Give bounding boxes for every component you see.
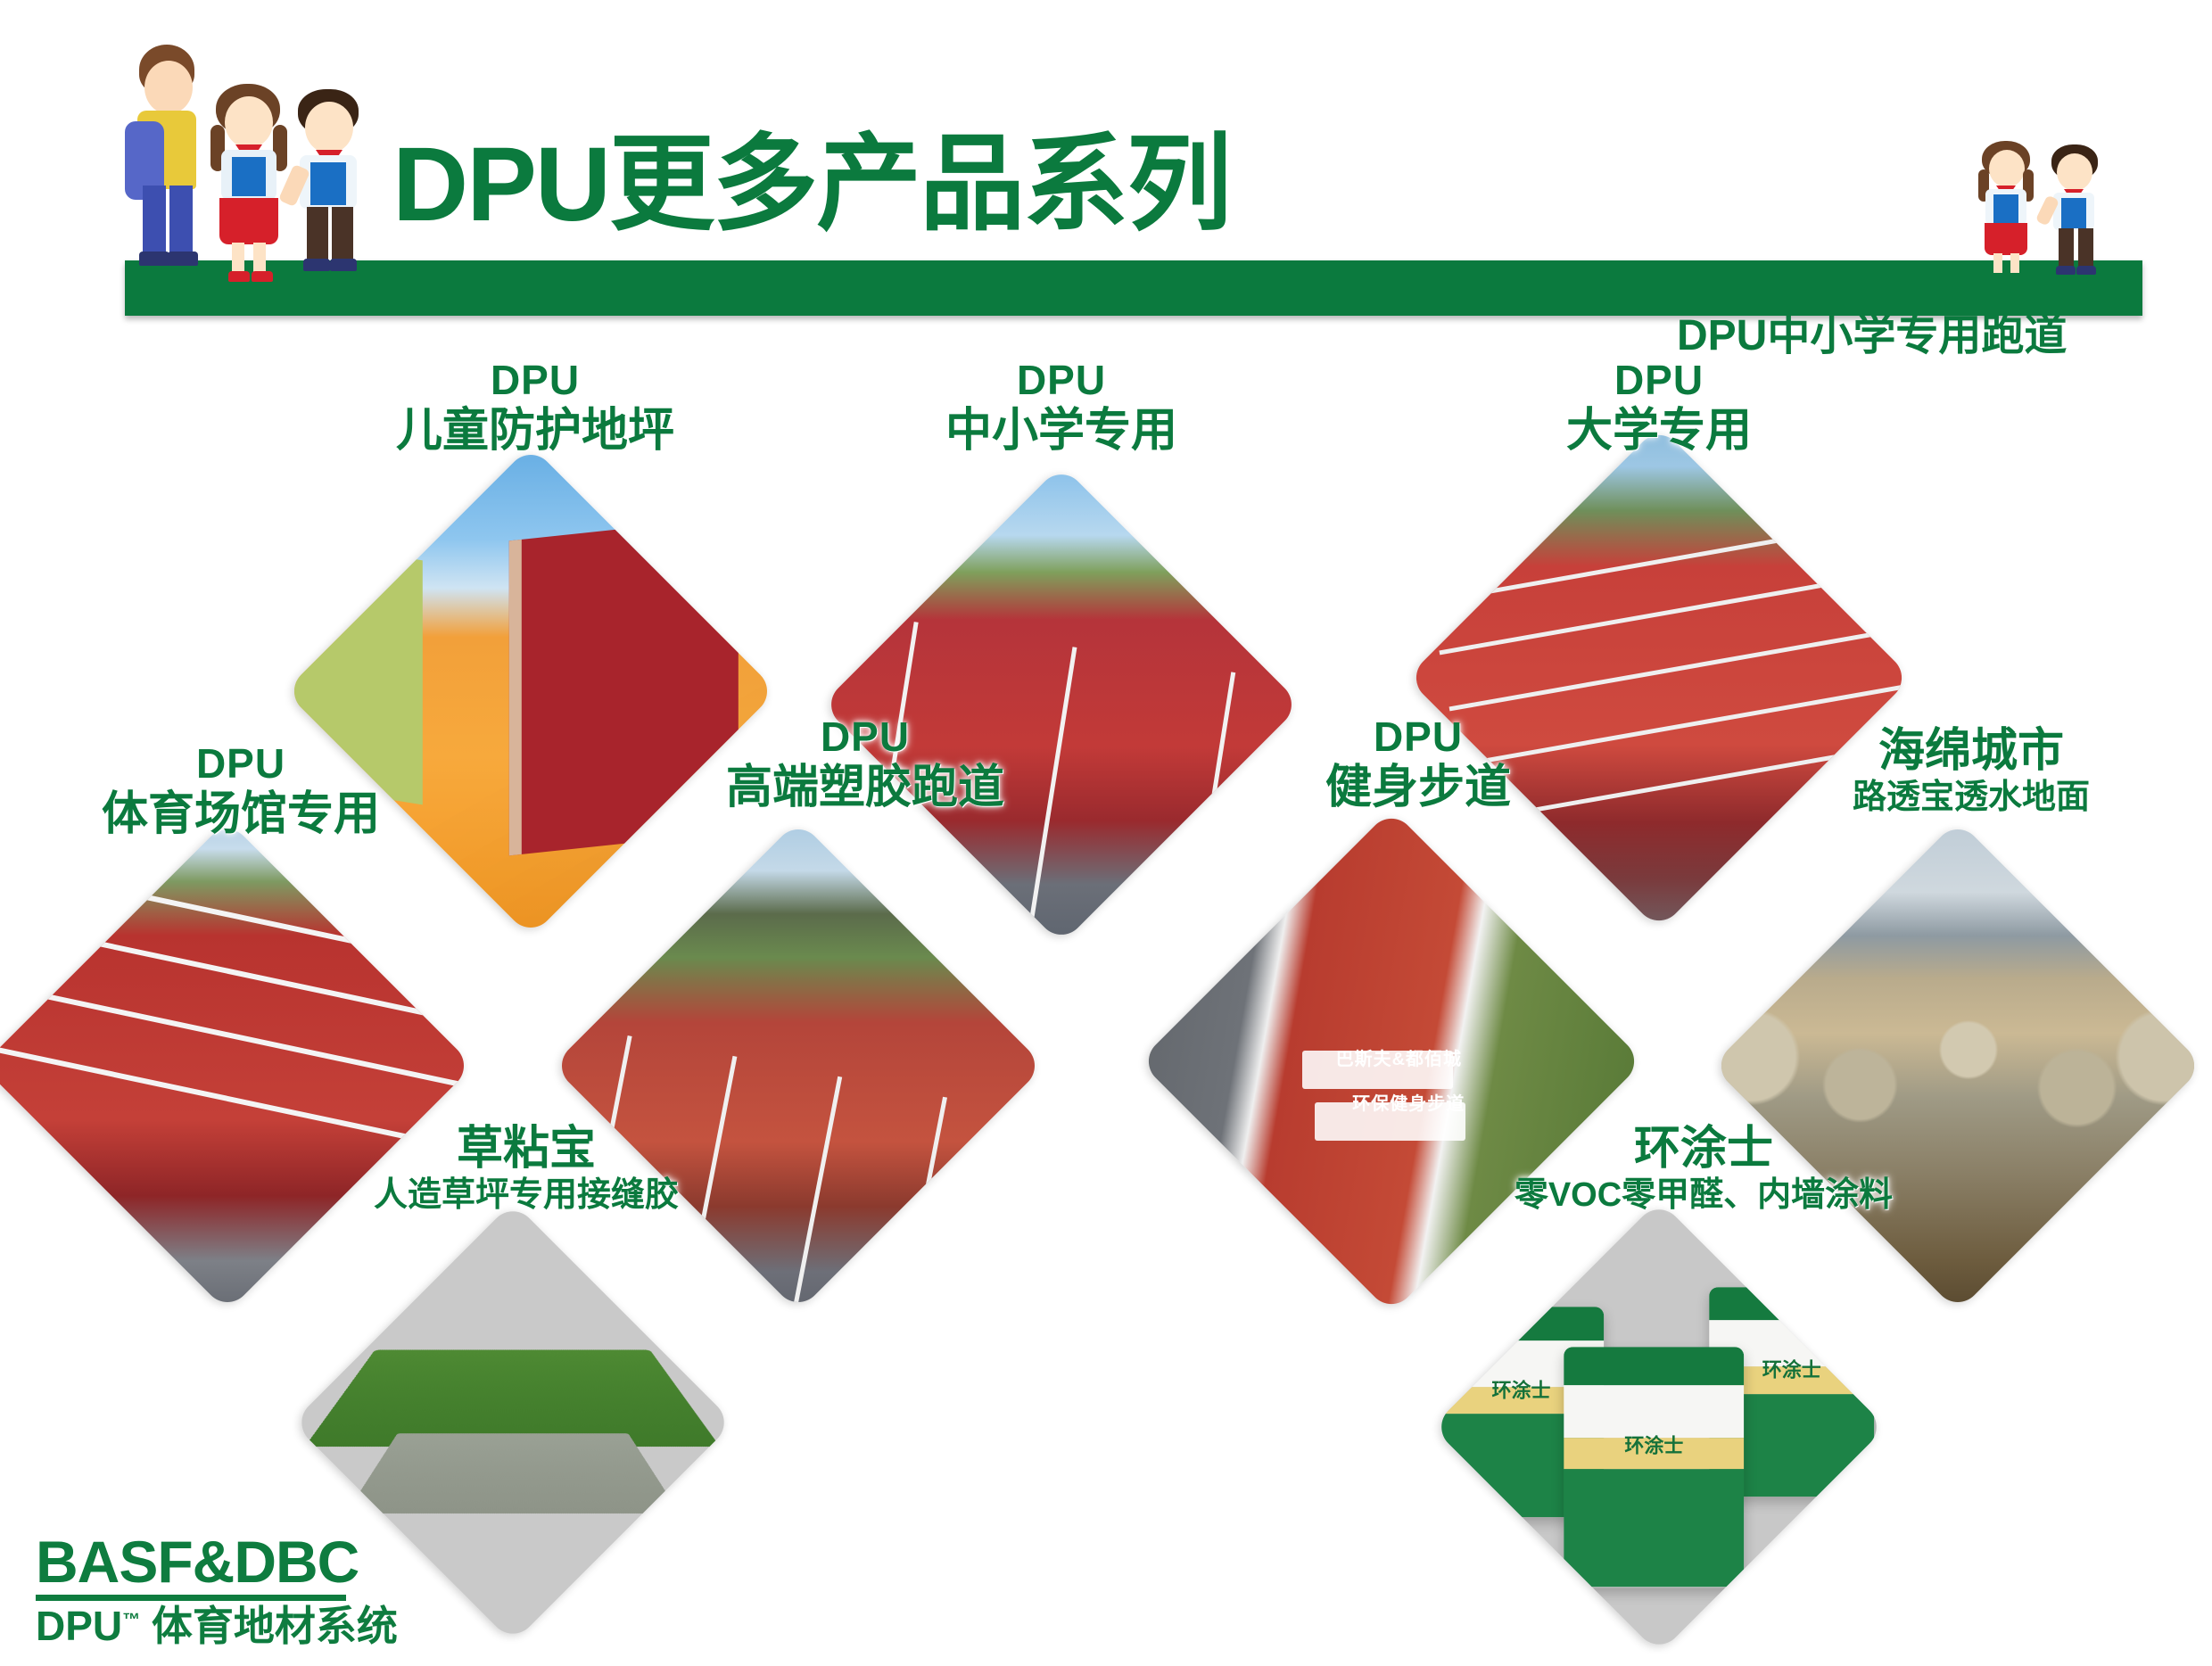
caption-line1: 环涂士 bbox=[1498, 1122, 1909, 1175]
brand-dpu-cn-text: 体育地材系统 bbox=[152, 1603, 398, 1649]
trademark-icon: ™ bbox=[122, 1611, 140, 1630]
caption-line1: DPU bbox=[892, 357, 1231, 404]
photo-school-running-track bbox=[821, 465, 1300, 944]
caption-children-protective-flooring: DPU 儿童防护地坪 bbox=[348, 357, 722, 458]
caption-line2: 儿童防护地坪 bbox=[348, 404, 722, 458]
brand-line-dpu-system: DPU™ 体育地材系统 bbox=[36, 1605, 398, 1646]
photo-construction-site-track bbox=[552, 820, 1044, 1312]
page-title: DPU更多产品系列 bbox=[392, 132, 1230, 237]
bucket-label-front: 环涂士 bbox=[1564, 1430, 1744, 1458]
caption-line2: 健身步道 bbox=[1249, 761, 1588, 814]
caption-eco-wall-paint: 环涂士 零VOC零甲醛、内墙涂料 bbox=[1498, 1122, 1909, 1215]
card-premium-plastic-track[interactable] bbox=[552, 820, 1044, 1312]
caption-line2: 高端塑胶跑道 bbox=[678, 761, 1052, 814]
caption-line2: 中小学专用 bbox=[892, 404, 1231, 458]
caption-line2: 人造草坪专用接缝胶 bbox=[339, 1175, 714, 1215]
caption-university: DPU 大学专用 bbox=[1490, 357, 1828, 458]
photo-kindergarten-colored-flooring bbox=[285, 445, 777, 937]
caption-premium-plastic-track: DPU 高端塑胶跑道 bbox=[678, 713, 1052, 815]
caption-line1: 草粘宝 bbox=[339, 1122, 714, 1175]
brand-divider bbox=[36, 1595, 346, 1601]
caption-primary-secondary-school: DPU 中小学专用 bbox=[892, 357, 1231, 458]
slide-canvas: DPU更多产品系列 DPU中小学专用跑道 巴斯夫&都佰城 环保健身步道 bbox=[0, 0, 2212, 1666]
caption-line2: 零VOC零甲醛、内墙涂料 bbox=[1498, 1175, 1909, 1215]
brand-logo: BASF&DBC DPU™ 体育地材系统 bbox=[36, 1532, 398, 1646]
students-illustration-right bbox=[1971, 132, 2141, 275]
top-right-label: DPU中小学专用跑道 bbox=[1677, 300, 2067, 362]
caption-line1: DPU bbox=[678, 713, 1052, 761]
caption-line2: 大学专用 bbox=[1490, 404, 1828, 458]
caption-line2: 体育场馆专用 bbox=[54, 788, 428, 841]
card-university[interactable] bbox=[1407, 425, 1911, 930]
caption-line1: DPU bbox=[348, 357, 722, 404]
walkway-painted-text-line2: 环保健身步道 bbox=[1352, 1089, 1465, 1115]
caption-line2: 路透宝透水地面 bbox=[1793, 778, 2150, 817]
brand-line-basf-dbc: BASF&DBC bbox=[36, 1532, 398, 1591]
caption-line1: DPU bbox=[1249, 713, 1588, 761]
photo-indoor-sports-venue-track bbox=[0, 820, 474, 1312]
card-sponge-city[interactable] bbox=[1712, 820, 2204, 1312]
caption-line1: DPU bbox=[54, 740, 428, 788]
caption-sponge-city: 海绵城市 路透宝透水地面 bbox=[1793, 724, 2150, 817]
student-figure-boy bbox=[280, 89, 380, 275]
card-sports-venue[interactable] bbox=[0, 820, 474, 1312]
caption-line1: DPU bbox=[1490, 357, 1828, 404]
student-figure-girl-right bbox=[1971, 141, 2048, 271]
caption-sports-venue: DPU 体育场馆专用 bbox=[54, 740, 428, 842]
caption-line1: 海绵城市 bbox=[1793, 724, 2150, 778]
card-fitness-walkway[interactable]: 巴斯夫&都佰城 环保健身步道 bbox=[1139, 809, 1644, 1314]
paint-bucket-front: 环涂士 bbox=[1564, 1347, 1744, 1588]
caption-grass-seam-adhesive: 草粘宝 人造草坪专用接缝胶 bbox=[339, 1122, 714, 1215]
photo-permeable-pavement-cross-section bbox=[1712, 820, 2204, 1312]
students-illustration-left bbox=[114, 37, 400, 278]
caption-fitness-walkway: DPU 健身步道 bbox=[1249, 713, 1588, 815]
card-eco-wall-paint[interactable]: 环涂士 环涂士 环涂士 bbox=[1432, 1200, 1886, 1654]
photo-paint-buckets: 环涂士 环涂士 环涂士 bbox=[1432, 1200, 1886, 1654]
student-figure-boy-right bbox=[2039, 144, 2116, 275]
brand-dpu-text: DPU bbox=[36, 1603, 122, 1649]
walkway-painted-text-line1: 巴斯夫&都佰城 bbox=[1336, 1044, 1462, 1070]
card-children-protective-flooring[interactable] bbox=[285, 445, 777, 937]
card-primary-secondary-school[interactable] bbox=[821, 465, 1300, 944]
photo-red-fitness-walkway: 巴斯夫&都佰城 环保健身步道 bbox=[1139, 809, 1644, 1314]
photo-university-stadium-track bbox=[1407, 425, 1911, 930]
